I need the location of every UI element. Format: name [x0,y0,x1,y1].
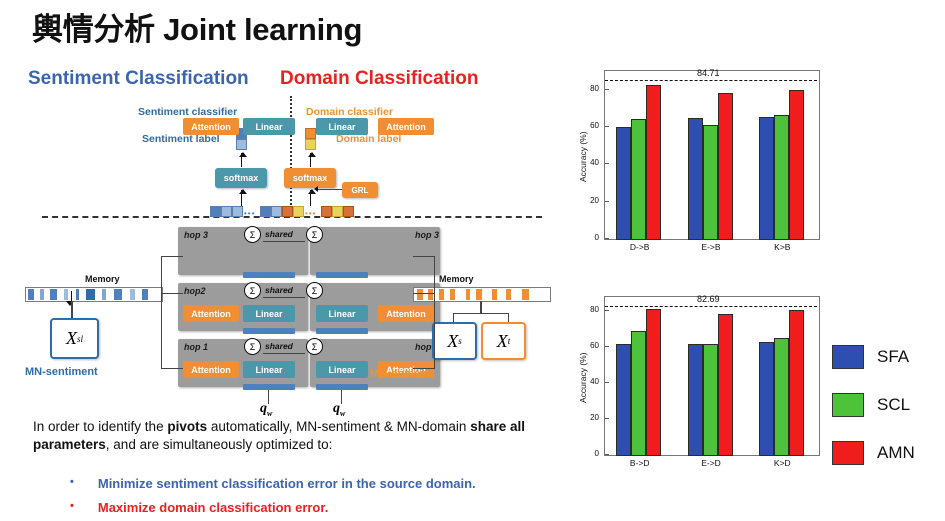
y-tick-label: 0 [581,233,599,242]
legend-swatch-amn [832,441,864,465]
attention-hop2-left: Attention [183,305,239,322]
legend-item-scl: SCL [832,393,915,417]
mem-riser-up-left [161,256,162,294]
caption-part1: In order to identify the [33,419,167,434]
y-tick-mark [605,418,609,419]
y-tick-mark [605,163,609,164]
page-title: 輿情分析 Joint learning [32,4,362,49]
shared-link-hop3 [263,241,305,242]
accuracy-chart-books: 020406080Accuracy (%)D->BE->BK>B84.71 [572,58,832,273]
shared-label-hop1: shared [265,341,293,351]
bar-scl-B->D [631,331,646,456]
domain-label-square-2 [305,139,316,150]
mem-riser-down-left [161,293,162,369]
y-tick-mark [605,346,609,347]
bar-scl-E->B [703,125,718,240]
arrow-softmax-left [241,190,242,206]
caption-text: In order to identify the pivots automati… [33,418,553,454]
domain-classifier-label: Domain classifier [306,106,393,118]
x-target-box: Xt [481,322,526,360]
feature-square-r1 [282,206,293,217]
bullet-maximize: • Maximize domain classification error. [70,500,328,515]
y-tick-mark [605,126,609,127]
feature-square-r4 [332,206,343,217]
y-tick-label: 20 [581,196,599,205]
mem-to-hop3-right [413,256,435,257]
reference-line-label: 84.71 [697,68,720,78]
linear-hop2-left: Linear [243,305,295,322]
bullet-minimize: • Minimize sentiment classification erro… [70,476,476,491]
attention-hop3-right: Attention [378,118,434,135]
feature-square-l2 [221,206,232,217]
y-tick-mark [605,201,609,202]
sigma-hop3-right: Σ [306,226,323,243]
mn-sentiment-label: MN-sentiment [25,366,98,378]
bullet-marker-2: • [70,500,74,515]
memory-label-right: Memory [439,274,474,284]
y-tick-mark [605,310,609,311]
x-tick-label: D->B [604,242,675,252]
hop1-label-left: hop 1 [184,342,208,352]
shared-label-hop2: shared [265,285,293,295]
sentiment-classifier-label: Sentiment classifier [138,106,237,118]
y-tick-mark [605,89,609,90]
legend-swatch-sfa [832,345,864,369]
reference-line-label: 82.69 [697,294,720,304]
chart-legend: SFASCLAMN [832,345,915,489]
feature-square-l5 [271,206,282,217]
y-tick-mark [605,454,609,455]
hop2-bar-right [316,328,368,334]
memory-strip-left [25,287,163,302]
bullet-text-2: Maximize domain classification error. [98,500,328,515]
sigma-hop1-right: Σ [306,338,323,355]
bar-sfa-D->B [616,127,631,240]
hop3-label-left: hop 3 [184,230,208,240]
bar-sfa-E->D [688,344,703,456]
bar-amn-E->B [718,93,733,240]
softmax-sentiment: softmax [215,168,267,188]
feature-square-r5 [343,206,354,217]
legend-label-scl: SCL [877,395,910,415]
feature-square-r3 [321,206,332,217]
bar-amn-D->B [646,85,661,240]
memory-fork-right [453,313,509,314]
linear-hop2-right: Linear [316,305,368,322]
y-tick-label: 60 [581,341,599,350]
x-tick-label: B->D [604,458,675,468]
x-tick-label: E->D [675,458,746,468]
x-tick-label: K>B [747,242,818,252]
sigma-hop3-left: Σ [244,226,261,243]
sentiment-label-square-2 [236,139,247,150]
x-tick-label: K>D [747,458,818,468]
attention-hop3-left: Attention [183,118,239,135]
linear-hop1-right: Linear [316,361,368,378]
y-tick-mark [605,238,609,239]
vertical-divider [290,96,292,212]
arrow-label-right [310,153,311,167]
legend-item-sfa: SFA [832,345,915,369]
y-tick-label: 80 [581,84,599,93]
x-tick-label: E->B [675,242,746,252]
linear-hop1-left: Linear [243,361,295,378]
domain-classification-heading: Domain Classification [280,68,479,90]
mem-riser-up-right [434,256,435,294]
feature-square-r2 [293,206,304,217]
legend-item-amn: AMN [832,441,915,465]
softmax-domain: softmax [284,168,336,188]
grl-box: GRL [342,182,378,198]
feature-square-l3 [232,206,243,217]
mem-to-hop1-right [413,368,435,369]
arrow-label-left [241,153,242,167]
grl-connector [316,189,342,190]
q-label-left: qw [260,401,272,418]
bar-scl-E->D [703,344,718,456]
hop3-bar-right [316,272,368,278]
linear-hop3-left: Linear [243,118,295,135]
hop2-bar-left [243,328,295,334]
feature-ellipsis-right: ••• [305,209,316,218]
shared-label-hop3: shared [265,229,293,239]
caption-part3: , and are simultaneously optimized to: [106,437,333,452]
y-tick-label: 60 [581,121,599,130]
bullet-marker-1: • [70,476,74,491]
sentiment-classification-heading: Sentiment Classification [28,68,249,90]
y-tick-label: 20 [581,413,599,422]
hop3-label-right: hop 3 [415,230,439,240]
arrow-softmax-right [310,190,311,206]
feature-ellipsis-left: ••• [244,209,255,218]
sigma-hop2-left: Σ [244,282,261,299]
bar-amn-E->D [718,314,733,456]
accuracy-chart-dvd: 020406080Accuracy (%)B->DE->DK>D82.69 [572,282,832,487]
legend-label-amn: AMN [877,443,915,463]
sigma-hop2-right: Σ [306,282,323,299]
y-axis-label: Accuracy (%) [578,352,588,403]
x-source-labeled-box: Xsl [50,318,99,359]
caption-bold-pivots: pivots [167,419,207,434]
bar-sfa-K>B [759,117,774,240]
bar-amn-K>D [789,310,804,456]
architecture-diagram: Sentiment classifier Domain classifier S… [20,96,565,416]
linear-hop3-right: Linear [316,118,368,135]
attention-hop1-left: Attention [183,361,239,378]
memory-label-left: Memory [85,274,120,284]
bar-amn-B->D [646,309,661,456]
mem-to-hop3-left [161,256,183,257]
feature-square-l1 [210,206,221,217]
attention-hop2-right: Attention [378,305,434,322]
bar-sfa-B->D [616,344,631,456]
shared-link-hop1 [263,353,305,354]
bar-sfa-K>D [759,342,774,456]
shared-link-hop2 [263,297,305,298]
bar-scl-K>D [774,338,789,456]
y-tick-mark [605,382,609,383]
y-tick-label: 0 [581,449,599,458]
x-source-box: Xs [432,322,477,360]
legend-label-sfa: SFA [877,347,909,367]
mem-to-hop1-left [161,368,183,369]
q-label-right: qw [333,401,345,418]
reference-line [605,306,817,307]
feature-square-l4 [260,206,271,217]
mem-to-hop2-left [161,293,183,294]
y-tick-label: 80 [581,305,599,314]
domain-label-square-1 [305,128,316,139]
bar-amn-K>B [789,90,804,240]
legend-swatch-scl [832,393,864,417]
reference-line [605,80,817,81]
bullet-text-1: Minimize sentiment classification error … [98,476,476,491]
memory-stem-left [71,301,73,319]
hop2-label-left: hop2 [184,286,206,296]
y-axis-label: Accuracy (%) [578,131,588,182]
mn-domain-label: MN-domain [370,368,430,380]
mem-riser-down-right [434,293,435,369]
hop3-bar-left [243,272,295,278]
mem-to-hop2-right [413,293,435,294]
bar-sfa-E->B [688,118,703,240]
bar-scl-D->B [631,119,646,240]
bar-scl-K>B [774,115,789,240]
sigma-hop1-left: Σ [244,338,261,355]
caption-part2: automatically, MN-sentiment & MN-domain [207,419,470,434]
